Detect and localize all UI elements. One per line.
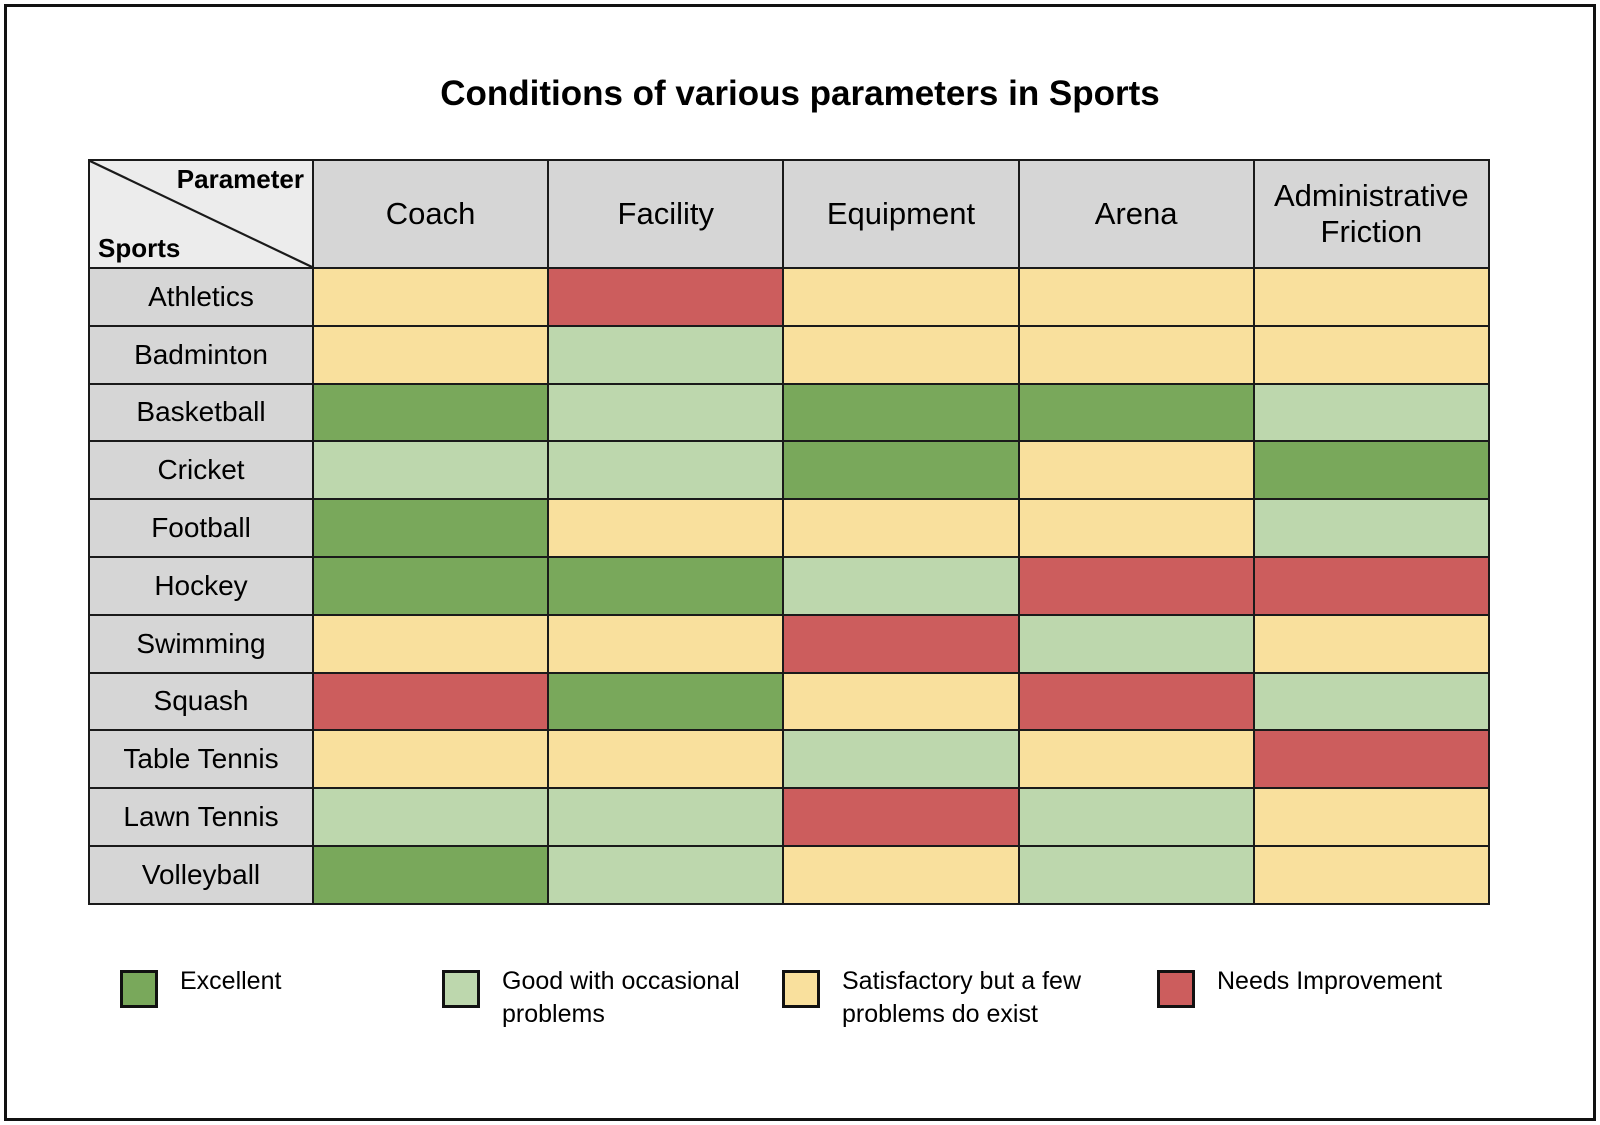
- heatmap-cell: [313, 326, 548, 384]
- legend-swatch-good: [442, 970, 480, 1008]
- heatmap-cell: [1254, 673, 1489, 731]
- heatmap-cell: [1254, 846, 1489, 904]
- table-row: Table Tennis: [89, 730, 1489, 788]
- heatmap-cell: [1254, 557, 1489, 615]
- row-header-football: Football: [89, 499, 313, 557]
- heatmap-cell: [1254, 441, 1489, 499]
- legend-item-good: Good with occasional problems: [442, 955, 782, 1031]
- row-header-hockey: Hockey: [89, 557, 313, 615]
- heatmap-cell: [1254, 788, 1489, 846]
- column-header-coach: Coach: [313, 160, 548, 268]
- row-header-basketball: Basketball: [89, 384, 313, 442]
- heatmap-cell: [548, 441, 783, 499]
- legend-label: Needs Improvement: [1217, 955, 1442, 998]
- table-row: Football: [89, 499, 1489, 557]
- heatmap-cell: [783, 384, 1018, 442]
- heatmap-cell: [1019, 441, 1254, 499]
- table-header: Parameter Sports Coach Facility Equipmen…: [89, 160, 1489, 268]
- row-header-athletics: Athletics: [89, 268, 313, 326]
- heatmap-cell: [1019, 730, 1254, 788]
- heatmap-cell: [548, 730, 783, 788]
- heatmap-cell: [1254, 615, 1489, 673]
- heatmap-cell: [1019, 499, 1254, 557]
- heatmap-cell: [783, 673, 1018, 731]
- heatmap-cell: [783, 326, 1018, 384]
- legend-swatch-needs-improvement: [1157, 970, 1195, 1008]
- heatmap-cell: [783, 730, 1018, 788]
- heatmap-cell: [548, 615, 783, 673]
- table-body: AthleticsBadmintonBasketballCricketFootb…: [89, 268, 1489, 904]
- row-header-cricket: Cricket: [89, 441, 313, 499]
- heatmap-cell: [313, 384, 548, 442]
- heatmap-cell: [1019, 846, 1254, 904]
- heatmap-cell: [1019, 615, 1254, 673]
- heatmap-cell: [548, 499, 783, 557]
- heatmap-cell: [548, 384, 783, 442]
- row-header-volleyball: Volleyball: [89, 846, 313, 904]
- legend-item-satisfactory: Satisfactory but a few problems do exist: [782, 955, 1157, 1031]
- heatmap-cell: [783, 268, 1018, 326]
- heatmap-cell: [313, 730, 548, 788]
- heatmap-cell: [1254, 268, 1489, 326]
- heatmap-cell: [1019, 788, 1254, 846]
- legend-label: Good with occasional problems: [502, 955, 757, 1031]
- conditions-matrix-table: Parameter Sports Coach Facility Equipmen…: [88, 159, 1490, 905]
- heatmap-cell: [313, 846, 548, 904]
- heatmap-cell: [1019, 268, 1254, 326]
- legend-label: Satisfactory but a few problems do exist: [842, 955, 1097, 1031]
- column-header-arena: Arena: [1019, 160, 1254, 268]
- table-row: Cricket: [89, 441, 1489, 499]
- row-header-squash: Squash: [89, 673, 313, 731]
- column-header-facility: Facility: [548, 160, 783, 268]
- heatmap-cell: [548, 673, 783, 731]
- heatmap-cell: [1019, 557, 1254, 615]
- table-row: Swimming: [89, 615, 1489, 673]
- heatmap-cell: [548, 846, 783, 904]
- table-row: Basketball: [89, 384, 1489, 442]
- heatmap-cell: [1254, 326, 1489, 384]
- heatmap-cell: [1254, 384, 1489, 442]
- legend: ExcellentGood with occasional problemsSa…: [120, 955, 1520, 1031]
- heatmap-cell: [1019, 384, 1254, 442]
- heatmap-cell: [313, 788, 548, 846]
- legend-item-needs-improvement: Needs Improvement: [1157, 955, 1487, 1008]
- page-title: Conditions of various parameters in Spor…: [0, 74, 1600, 114]
- table-row: Volleyball: [89, 846, 1489, 904]
- heatmap-cell: [783, 788, 1018, 846]
- header-row: Parameter Sports Coach Facility Equipmen…: [89, 160, 1489, 268]
- heatmap-cell: [1254, 499, 1489, 557]
- chart-page: Conditions of various parameters in Spor…: [0, 0, 1600, 1125]
- heatmap-cell: [783, 615, 1018, 673]
- heatmap-cell: [313, 499, 548, 557]
- heatmap-cell: [1019, 673, 1254, 731]
- heatmap-cell: [313, 441, 548, 499]
- row-header-lawn-tennis: Lawn Tennis: [89, 788, 313, 846]
- row-header-swimming: Swimming: [89, 615, 313, 673]
- table-row: Badminton: [89, 326, 1489, 384]
- column-axis-label: Parameter: [177, 165, 304, 194]
- column-header-administrative-friction: Administrative Friction: [1254, 160, 1489, 268]
- heatmap-cell: [548, 326, 783, 384]
- heatmap-cell: [548, 788, 783, 846]
- heatmap-cell: [1019, 326, 1254, 384]
- row-header-badminton: Badminton: [89, 326, 313, 384]
- table-row: Squash: [89, 673, 1489, 731]
- heatmap-cell: [1254, 730, 1489, 788]
- heatmap-cell: [548, 557, 783, 615]
- table-row: Hockey: [89, 557, 1489, 615]
- heatmap-cell: [313, 673, 548, 731]
- legend-item-excellent: Excellent: [120, 955, 442, 1008]
- heatmap-cell: [313, 268, 548, 326]
- heatmap-cell: [783, 846, 1018, 904]
- table-row: Lawn Tennis: [89, 788, 1489, 846]
- legend-label: Excellent: [180, 955, 281, 998]
- heatmap-cell: [783, 441, 1018, 499]
- heatmap-cell: [313, 615, 548, 673]
- heatmap-cell: [783, 557, 1018, 615]
- heatmap-cell: [313, 557, 548, 615]
- corner-axis-header: Parameter Sports: [89, 160, 313, 268]
- heatmap-cell: [783, 499, 1018, 557]
- row-axis-label: Sports: [98, 234, 180, 263]
- table-row: Athletics: [89, 268, 1489, 326]
- row-header-table-tennis: Table Tennis: [89, 730, 313, 788]
- legend-swatch-satisfactory: [782, 970, 820, 1008]
- heatmap-cell: [548, 268, 783, 326]
- column-header-equipment: Equipment: [783, 160, 1018, 268]
- legend-swatch-excellent: [120, 970, 158, 1008]
